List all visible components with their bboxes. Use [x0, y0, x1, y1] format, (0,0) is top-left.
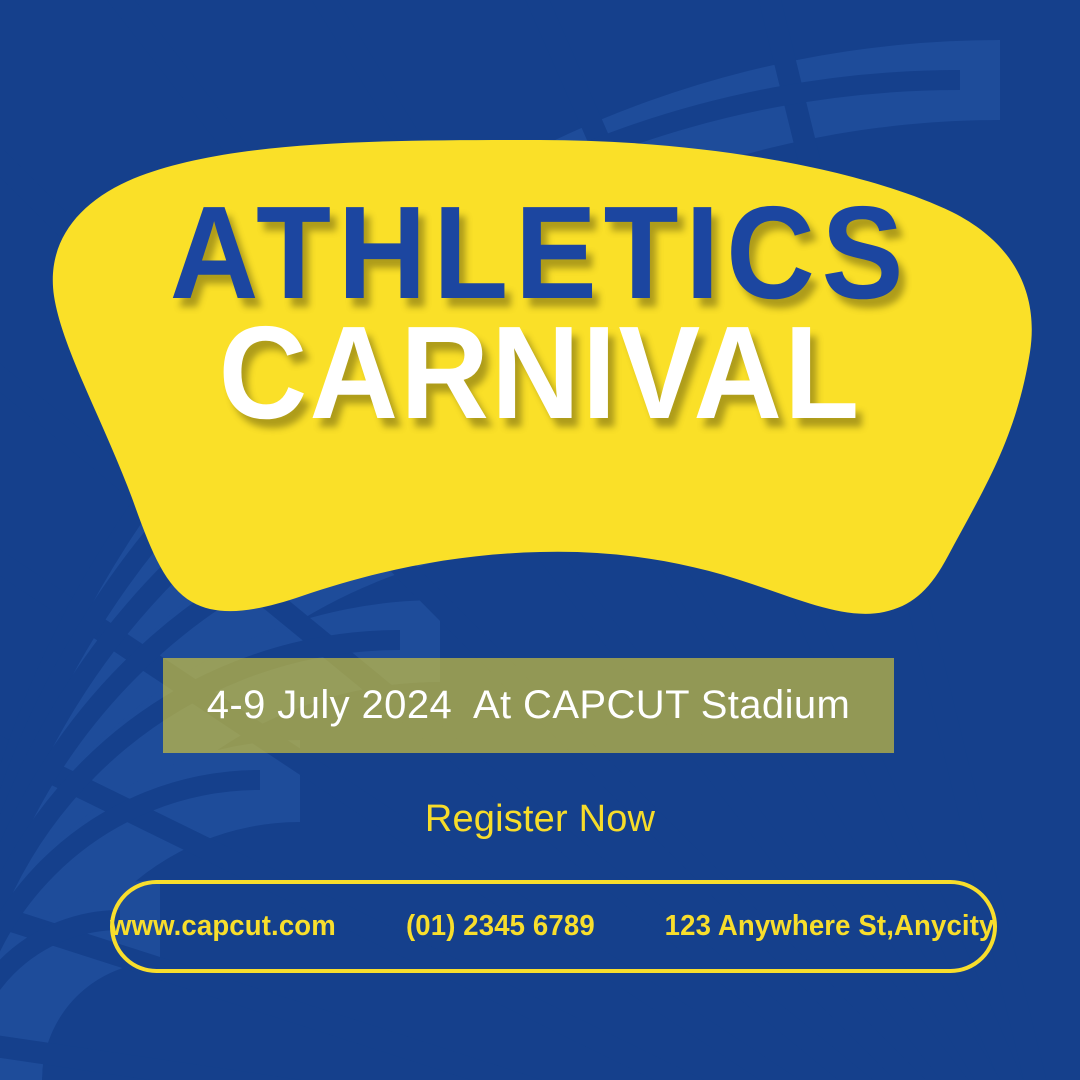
title-line-athletics: ATHLETICS: [38, 196, 1042, 310]
contact-info-pill: www.capcut.com (01) 2345 6789 123 Anywhe…: [110, 880, 997, 973]
contact-phone[interactable]: (01) 2345 6789: [406, 910, 595, 943]
date-venue-text: 4-9 July 2024 At CAPCUT Stadium: [207, 683, 850, 728]
poster-canvas: ATHLETICS CARNIVAL 4-9 July 2024 At CAPC…: [0, 0, 1080, 1080]
title-line-carnival: CARNIVAL: [38, 316, 1042, 430]
contact-address: 123 Anywhere St,Anycity: [665, 910, 995, 943]
headline-group: ATHLETICS CARNIVAL: [0, 196, 1080, 429]
register-now-label[interactable]: Register Now: [0, 798, 1080, 841]
date-venue-band: 4-9 July 2024 At CAPCUT Stadium: [163, 658, 894, 753]
contact-website[interactable]: www.capcut.com: [110, 910, 336, 943]
